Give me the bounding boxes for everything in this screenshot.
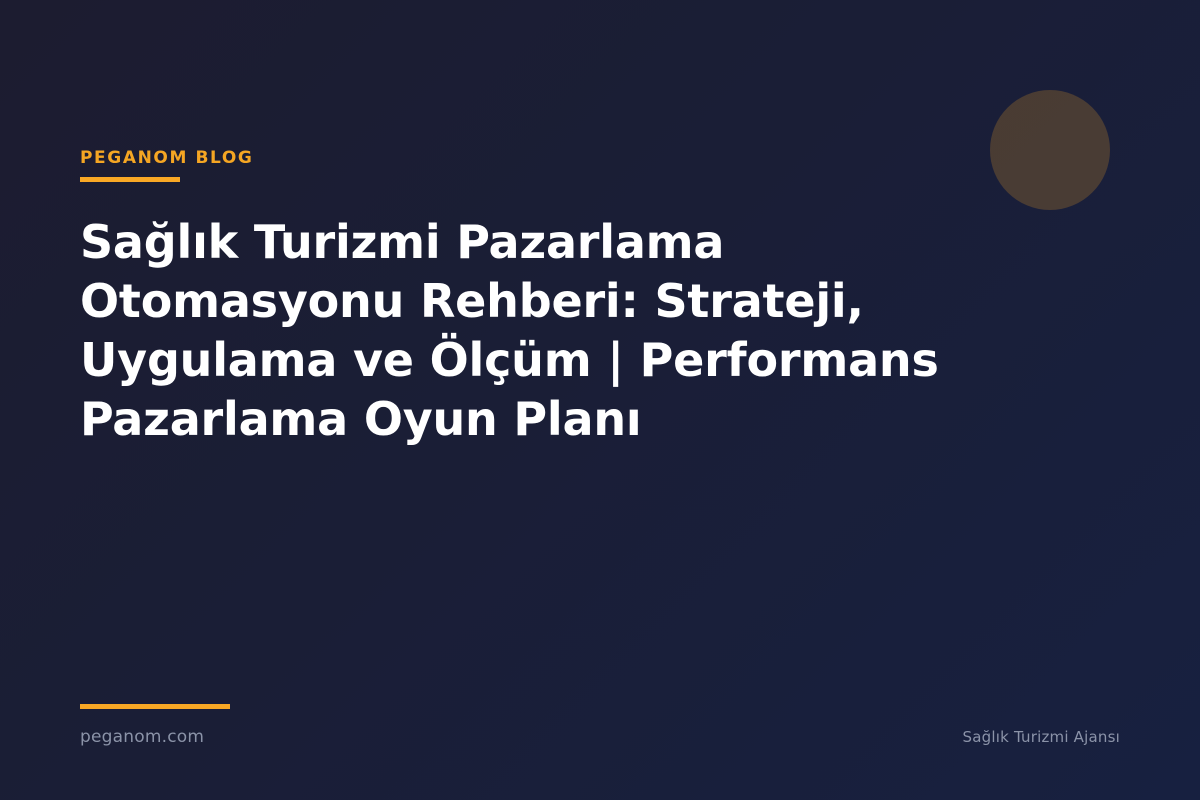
kicker-underline-rule [80, 177, 180, 182]
blog-cover-card: PEGANOM BLOG Sağlık Turizmi Pazarlama Ot… [0, 0, 1200, 800]
title-line: Otomasyonu Rehberi: Strateji, [80, 274, 864, 328]
footer-row: peganom.com Sağlık Turizmi Ajansı [80, 727, 1120, 747]
title-line: Pazarlama Oyun Planı [80, 392, 641, 446]
footer-block: peganom.com Sağlık Turizmi Ajansı [80, 704, 1120, 764]
title-line: Sağlık Turizmi Pazarlama [80, 215, 724, 269]
footer-domain-label: peganom.com [80, 727, 204, 747]
page-title: Sağlık Turizmi Pazarlama Otomasyonu Rehb… [80, 213, 1070, 449]
header-block: PEGANOM BLOG [80, 148, 1120, 182]
title-line: Uygulama ve Ölçüm | Performans [80, 333, 939, 387]
blog-kicker-label: PEGANOM BLOG [80, 148, 1120, 168]
footer-accent-rule [80, 704, 230, 709]
footer-agency-label: Sağlık Turizmi Ajansı [963, 727, 1120, 747]
